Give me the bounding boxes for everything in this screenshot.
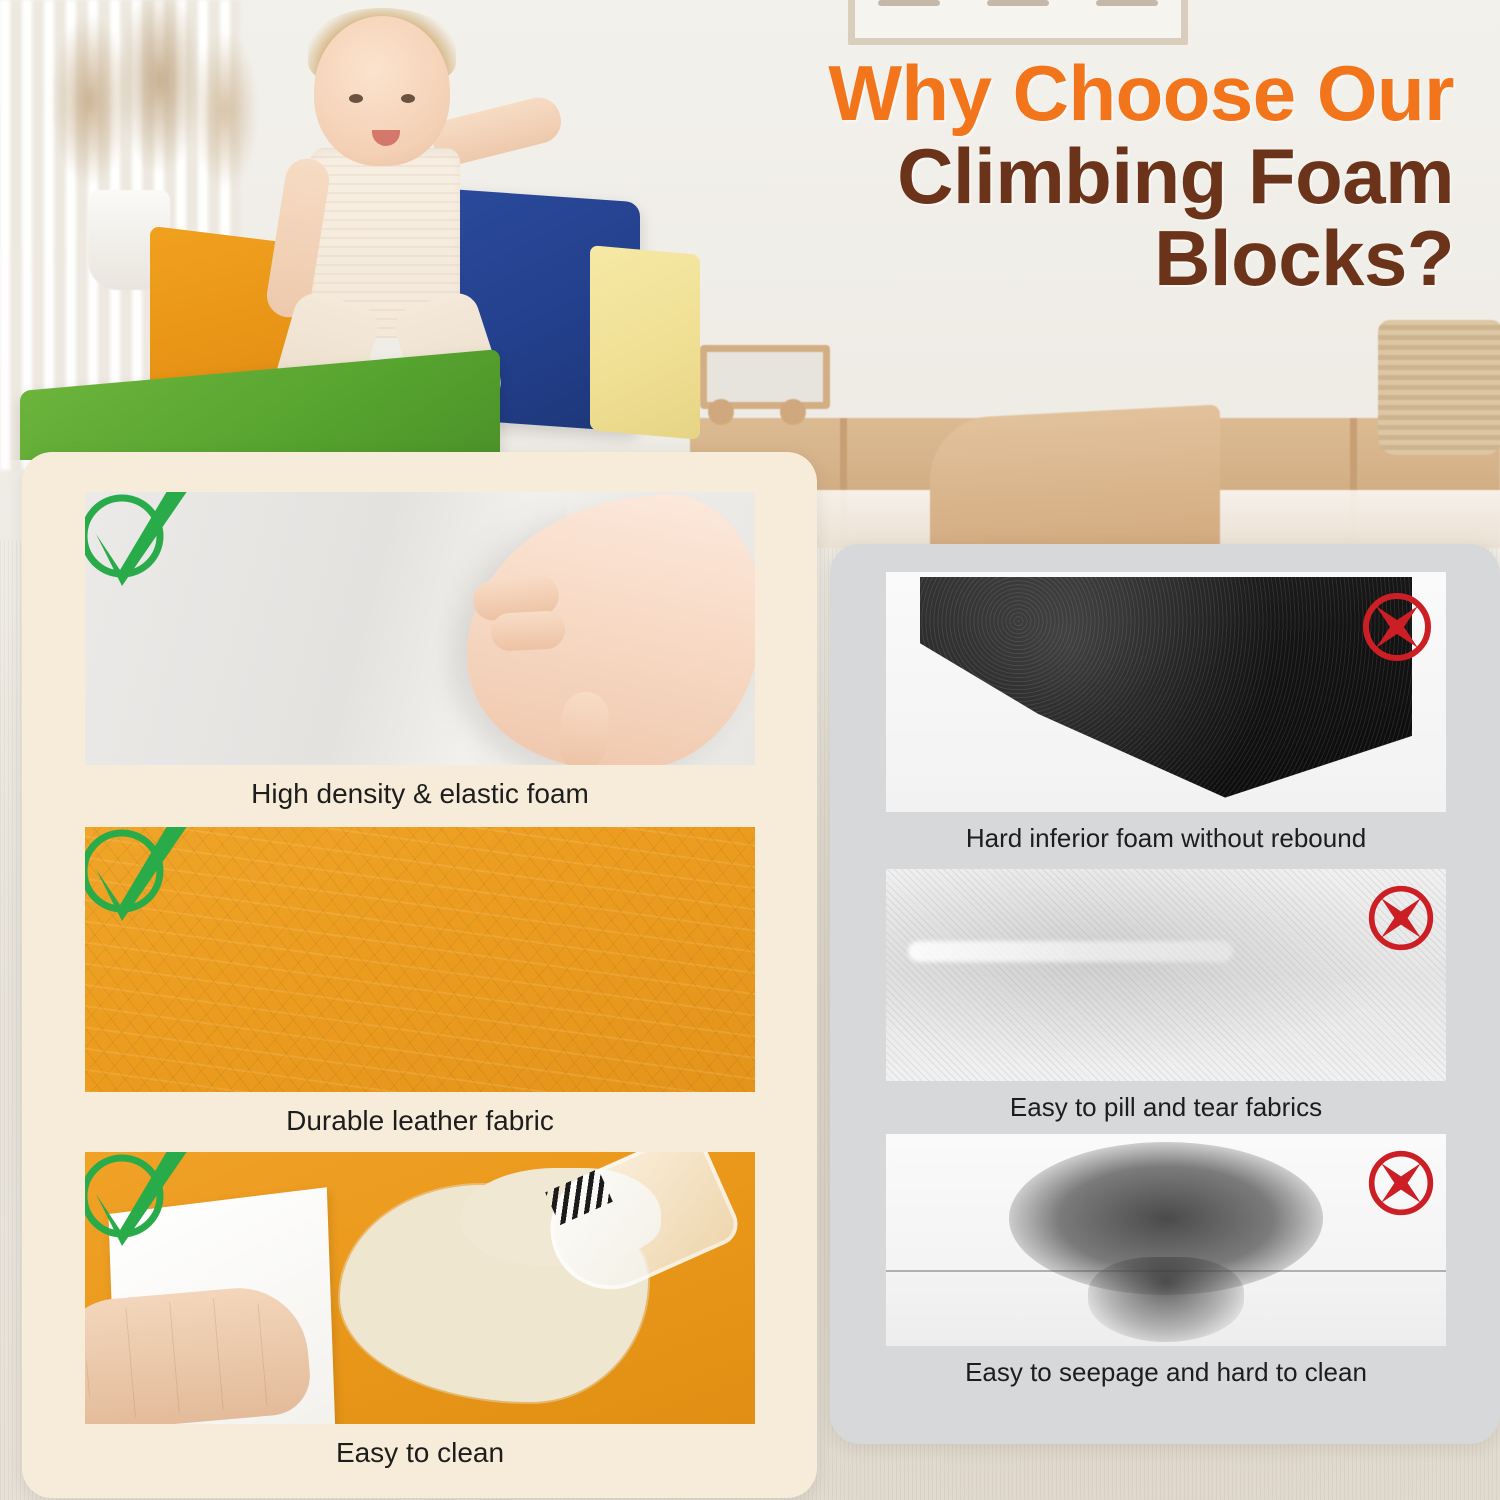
red-x-icon xyxy=(1366,1148,1436,1218)
headline-line-1: Why Choose Our xyxy=(614,52,1454,135)
green-check-icon xyxy=(85,492,192,589)
green-check-icon xyxy=(85,827,192,924)
cons-caption-2: Easy to pill and tear fabrics xyxy=(886,1081,1446,1123)
pros-caption-3: Easy to clean xyxy=(85,1424,755,1469)
cons-card: Hard inferior foam without rebound Easy … xyxy=(830,544,1500,1444)
pros-item-2: Durable leather fabric xyxy=(85,827,755,1137)
green-check-icon xyxy=(85,1152,192,1249)
cons-photo-black-foam xyxy=(886,572,1446,812)
cons-item-2: Easy to pill and tear fabrics xyxy=(886,869,1446,1123)
cons-caption-1: Hard inferior foam without rebound xyxy=(886,812,1446,854)
pros-caption-2: Durable leather fabric xyxy=(85,1092,755,1137)
pros-item-1: High density & elastic foam xyxy=(85,492,755,810)
cons-item-1: Hard inferior foam without rebound xyxy=(886,572,1446,854)
headline-line-3: Blocks? xyxy=(614,217,1454,300)
cons-photo-seepage xyxy=(886,1134,1446,1346)
infographic-canvas: Why Choose Our Climbing Foam Blocks? Hig… xyxy=(0,0,1500,1500)
pros-photo-spill xyxy=(85,1152,755,1424)
pros-card: High density & elastic foam Durable leat… xyxy=(22,452,817,1498)
wooden-ramp-toy xyxy=(930,404,1220,559)
pros-caption-1: High density & elastic foam xyxy=(85,765,755,810)
pros-photo-foam xyxy=(85,492,755,765)
wall-art-frame xyxy=(848,0,1188,45)
headline-line-2: Climbing Foam xyxy=(614,135,1454,218)
woven-basket xyxy=(1378,320,1500,455)
hero-photo xyxy=(0,0,700,460)
pros-photo-leather xyxy=(85,827,755,1092)
cons-caption-3: Easy to seepage and hard to clean xyxy=(886,1346,1446,1388)
page-title: Why Choose Our Climbing Foam Blocks? xyxy=(614,52,1454,300)
red-x-icon xyxy=(1360,590,1434,664)
red-x-icon xyxy=(1366,883,1436,953)
cons-photo-pilled-fabric xyxy=(886,869,1446,1081)
cons-item-3: Easy to seepage and hard to clean xyxy=(886,1134,1446,1388)
wooden-toy-cart xyxy=(700,345,830,425)
pros-item-3: Easy to clean xyxy=(85,1152,755,1469)
